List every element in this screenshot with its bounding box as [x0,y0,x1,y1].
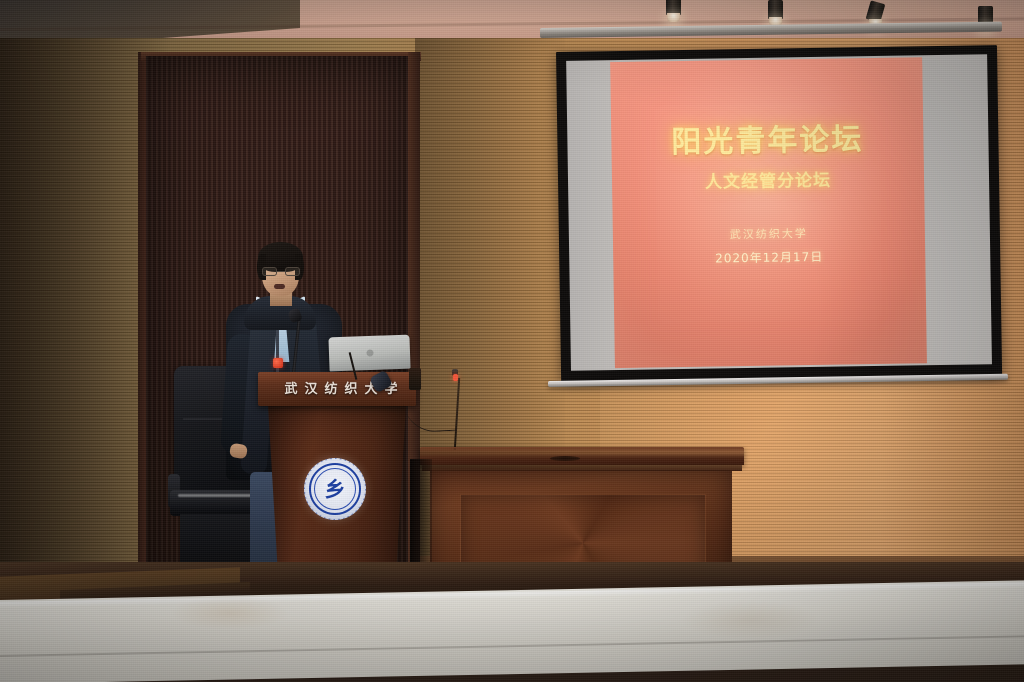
stage-surface-mark-2 [170,596,290,630]
university-emblem: 乡 [304,458,366,520]
glasses-icon [262,267,300,276]
lapel-badge [273,358,283,368]
screen-surface: 阳光青年论坛 人文经管分论坛 武汉纺织大学 2020年12月17日 [566,54,992,371]
projection-screen[interactable]: 阳光青年论坛 人文经管分论坛 武汉纺织大学 2020年12月17日 [556,45,1002,382]
track-light-4 [666,0,681,23]
slide-organization: 武汉纺织大学 [730,225,808,242]
slide-text-block: 阳光青年论坛 人文经管分论坛 武汉纺织大学 2020年12月17日 [610,57,926,368]
laptop[interactable] [328,335,410,372]
slide-date: 2020年12月17日 [715,248,823,267]
podium-nameplate: 武汉纺织大学 [262,378,420,397]
projected-slide: 阳光青年论坛 人文经管分论坛 武汉纺织大学 2020年12月17日 [610,57,926,368]
stage-surface-mark-1 [680,600,820,640]
slide-title: 阳光青年论坛 [671,114,864,161]
slide-subtitle: 人文经管分论坛 [705,166,831,193]
mouth [274,284,285,289]
glasses-lens-left [262,267,277,276]
table-top [420,447,744,465]
auditorium-scene: 阳光青年论坛 人文经管分论坛 武汉纺织大学 2020年12月17日 [0,0,1024,682]
glasses-bridge [277,271,285,272]
glasses-lens-right [285,267,300,276]
track-light-1 [768,0,783,27]
wall-outlet[interactable] [409,368,421,390]
track-light-lens [667,13,680,22]
table-lip [422,464,742,471]
emblem-glyph: 乡 [325,473,346,503]
